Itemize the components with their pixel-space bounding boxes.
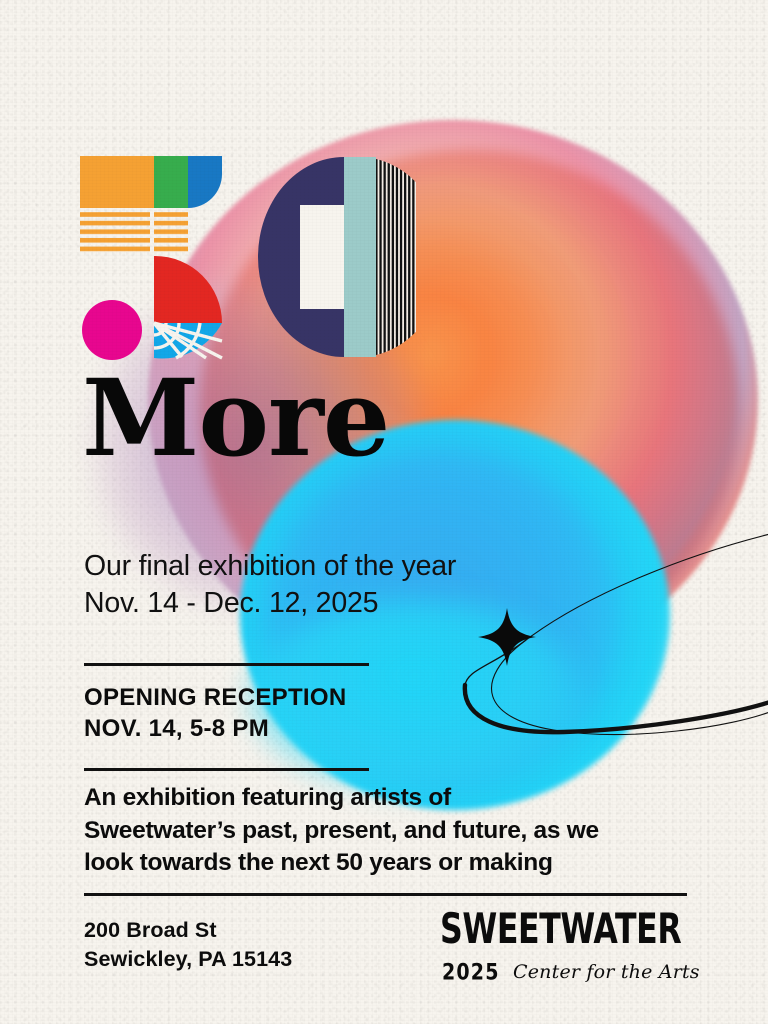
poster-canvas: More Our final exhibition of the year No…	[0, 0, 768, 1024]
headline-more: More	[82, 366, 389, 470]
brand-year: 2025	[442, 959, 500, 985]
opening-reception-block: OPENING RECEPTION NOV. 14, 5-8 PM	[84, 682, 346, 744]
reception-time: NOV. 14, 5-8 PM	[84, 713, 346, 744]
address-line-1: 200 Broad St	[84, 916, 292, 945]
four-point-star-icon	[478, 608, 536, 666]
brand-name: SWEETWATER	[440, 910, 681, 953]
exhibition-description: An exhibition featuring artists of Sweet…	[84, 782, 704, 880]
poster-text-content: More Our final exhibition of the year No…	[0, 0, 768, 1024]
description-line-2: Sweetwater’s past, present, and future, …	[84, 815, 704, 848]
address-line-2: Sewickley, PA 15143	[84, 945, 292, 974]
description-line-3: look towards the next 50 years or making	[84, 847, 704, 880]
description-line-1: An exhibition featuring artists of	[84, 782, 704, 815]
divider-above-reception	[84, 663, 369, 666]
reception-title: OPENING RECEPTION	[84, 682, 346, 713]
brand-tagline: Center for the Arts	[513, 961, 700, 983]
venue-address: 200 Broad St Sewickley, PA 15143	[84, 916, 292, 973]
divider-below-reception	[84, 768, 369, 771]
divider-above-footer	[84, 893, 687, 896]
sweetwater-logo: SWEETWATER 2025 Center for the Arts	[440, 910, 700, 988]
